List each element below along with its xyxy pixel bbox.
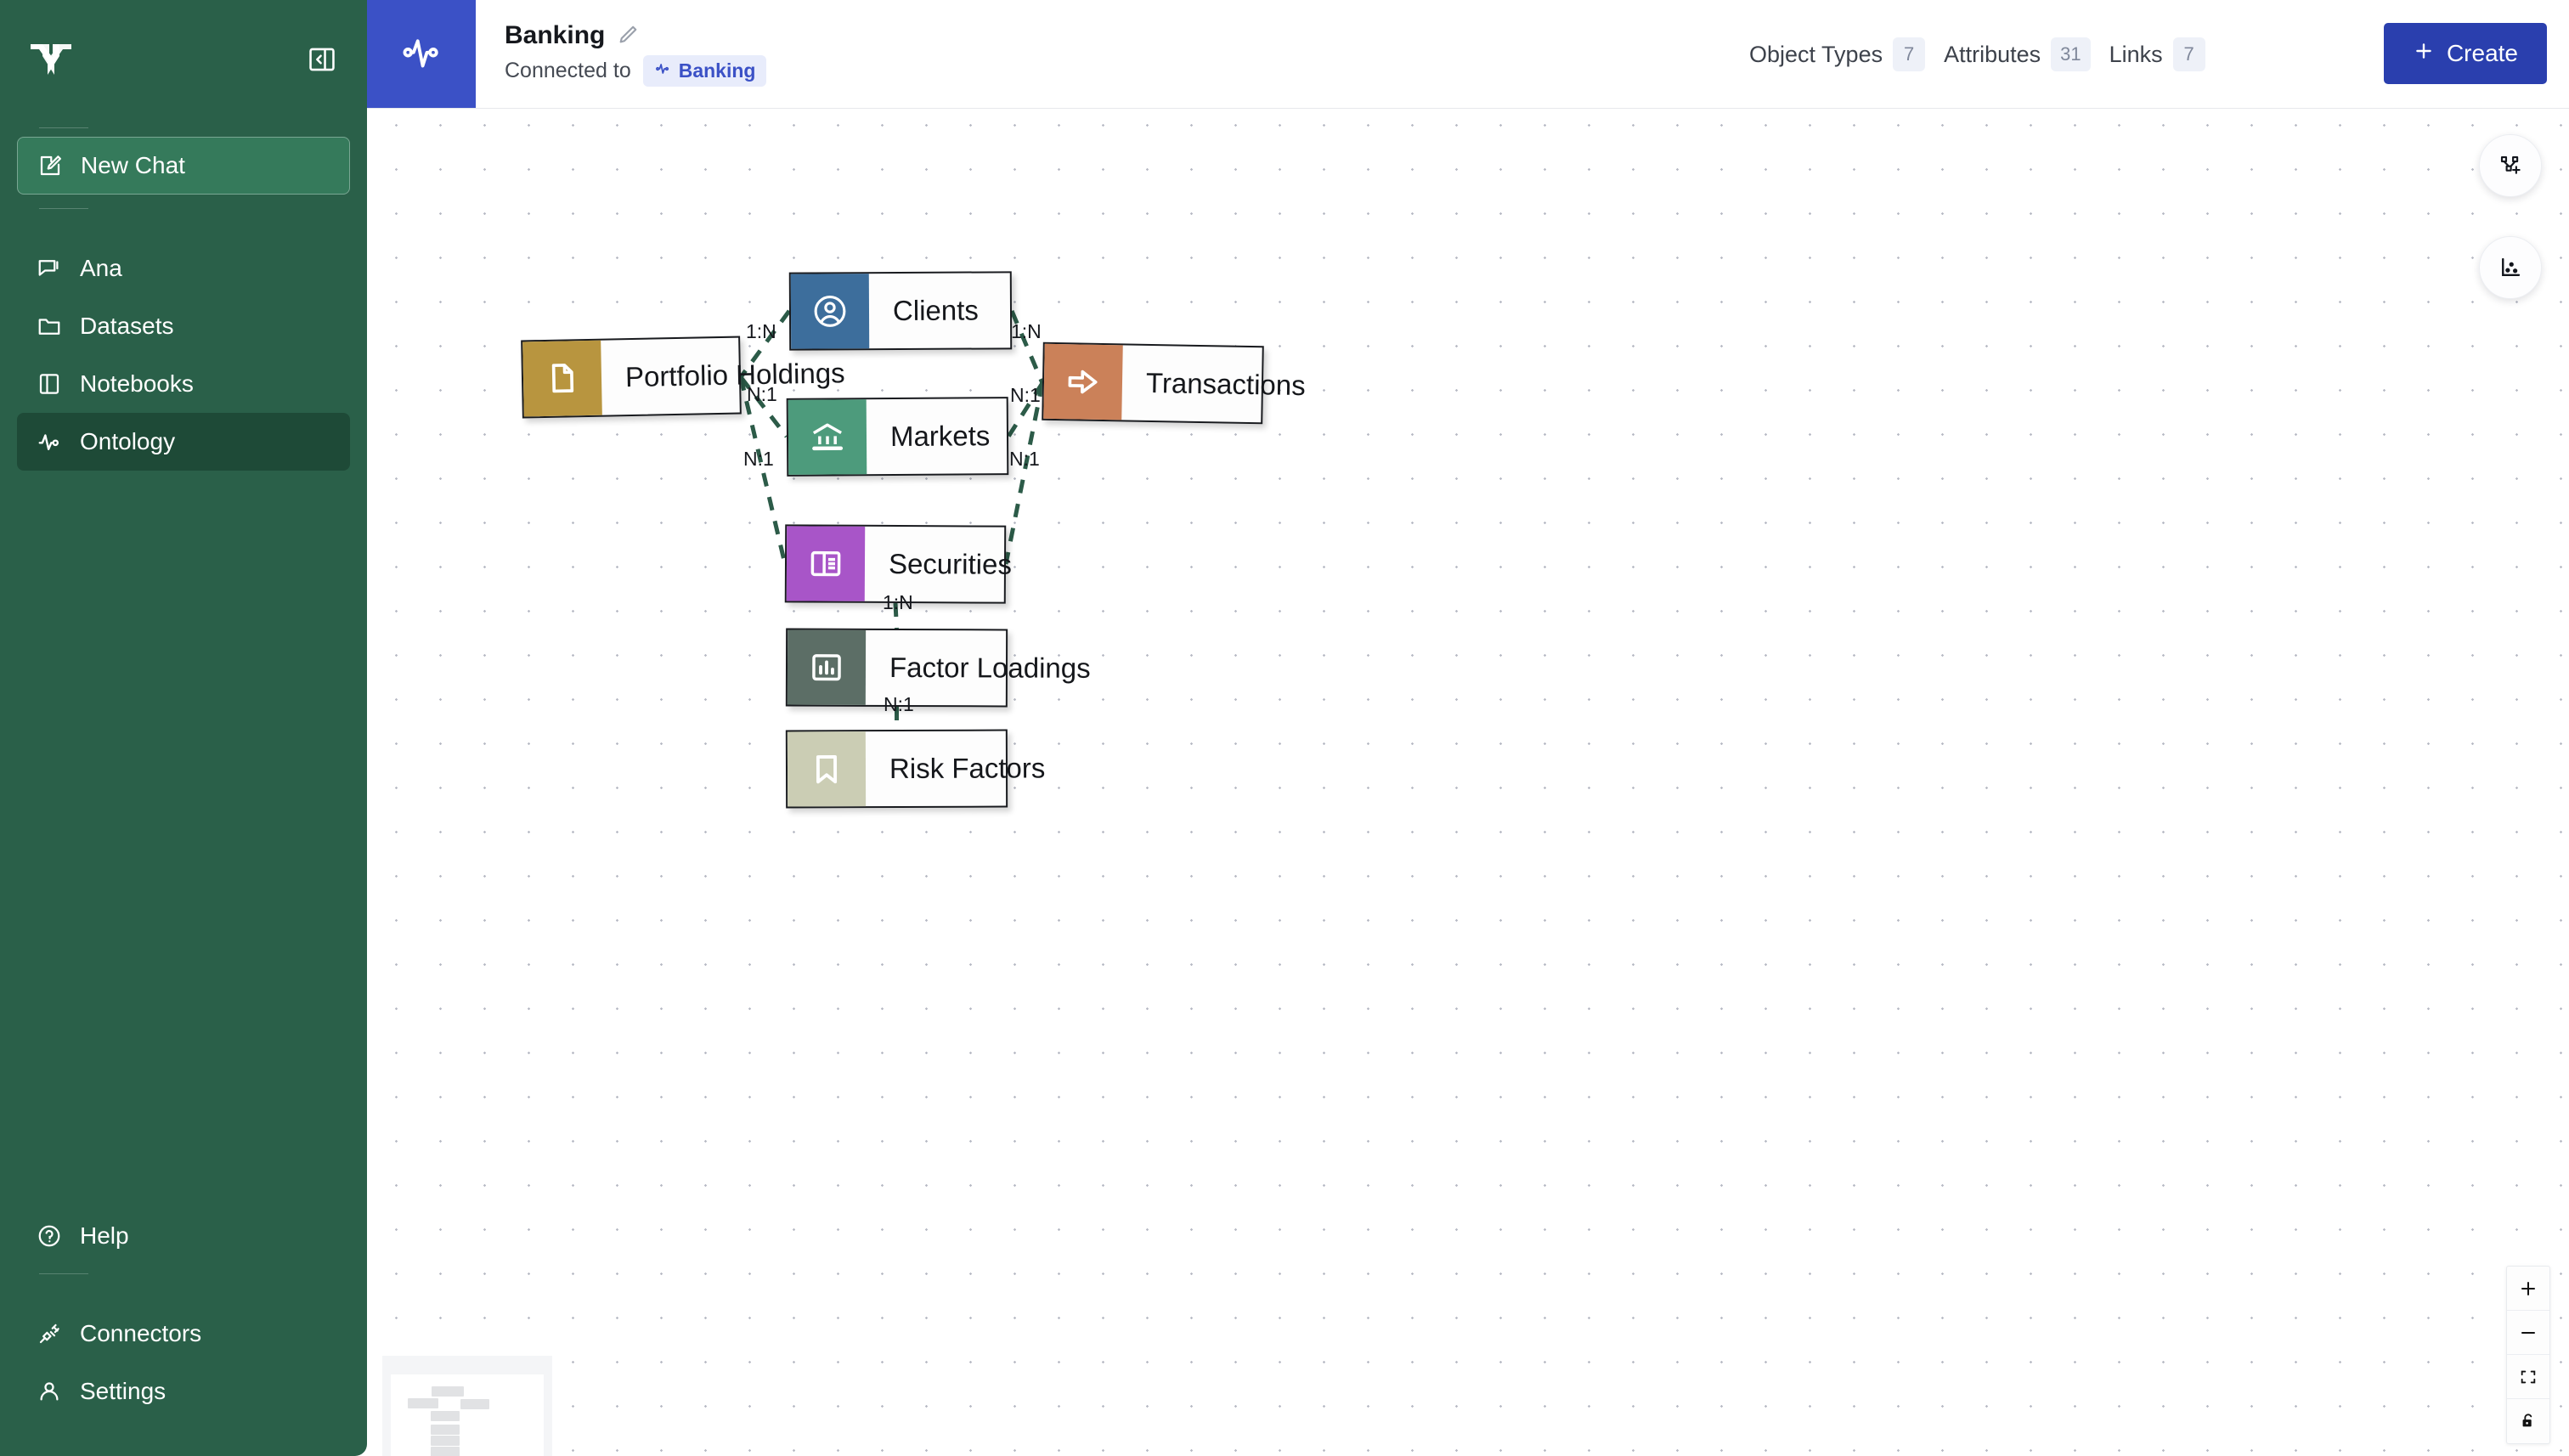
minimap-node <box>460 1399 489 1409</box>
library-icon <box>787 526 865 601</box>
edge-cardinality-label: N:1 <box>1009 448 1040 471</box>
sidebar: New Chat Ana Datasets <box>0 0 367 1456</box>
minimap-node <box>431 1425 460 1435</box>
minimap-node <box>408 1398 438 1408</box>
stat-attributes: Attributes 31 <box>1944 37 2091 71</box>
compose-icon <box>37 152 64 179</box>
page-title: Banking <box>505 21 605 50</box>
sidebar-header <box>15 0 352 119</box>
sidebar-spacer <box>15 471 352 1207</box>
object-type-label: Risk Factors <box>866 731 1068 806</box>
sidebar-item-label: Ontology <box>80 428 175 455</box>
stat-value: 7 <box>1893 37 1925 71</box>
sidebar-item-label: Help <box>80 1222 129 1250</box>
ontology-app: New Chat Ana Datasets <box>0 0 2569 1456</box>
pencil-icon[interactable] <box>617 22 641 50</box>
connected-source-chip[interactable]: Banking <box>643 55 767 87</box>
object-type-label: Clients <box>869 273 1001 348</box>
stat-label: Links <box>2109 42 2163 68</box>
sidebar-footer: Help Connectors <box>15 1207 352 1425</box>
ontology-icon <box>654 59 671 82</box>
create-button[interactable]: Create <box>2384 23 2547 84</box>
plug-icon <box>36 1320 63 1347</box>
arrow-right-box-icon <box>1043 344 1123 420</box>
edge-cardinality-label: N:1 <box>747 383 777 406</box>
fit-screen-button[interactable] <box>2507 1355 2549 1399</box>
sidebar-gap-bottom <box>15 1283 352 1305</box>
ontology-title-block: Banking Connected to <box>476 0 766 108</box>
chip-label: Banking <box>679 59 756 82</box>
document-icon <box>522 341 602 417</box>
ontology-canvas[interactable]: ClientsPortfolio HoldingsTransactionsMar… <box>367 109 2569 1456</box>
top-bar: Banking Connected to <box>367 0 2569 109</box>
ontology-edges <box>367 109 2569 1456</box>
edge-cardinality-label: N:1 <box>743 448 774 471</box>
ontology-app-icon <box>367 0 476 108</box>
bar-chart-icon <box>788 630 866 705</box>
chat-plus-icon <box>36 255 63 282</box>
sidebar-gap <box>15 217 352 240</box>
zoom-controls <box>2506 1266 2550 1444</box>
panel-collapse-icon[interactable] <box>308 45 336 74</box>
minimap-node <box>431 1447 460 1456</box>
main-area: Banking Connected to <box>367 0 2569 1456</box>
sidebar-item-ontology[interactable]: Ontology <box>17 413 350 471</box>
scatter-plot-button[interactable] <box>2479 236 2542 299</box>
sidebar-item-datasets[interactable]: Datasets <box>17 297 350 355</box>
ontology-stats: Object Types 7 Attributes 31 Links 7 <box>1749 0 2205 109</box>
sidebar-item-connectors[interactable]: Connectors <box>17 1305 350 1363</box>
object-type-node-transactions[interactable]: Transactions <box>1042 342 1264 425</box>
stat-object-types: Object Types 7 <box>1749 37 1925 71</box>
edge-cardinality-label: 1:N <box>746 320 776 343</box>
stat-label: Object Types <box>1749 42 1883 68</box>
object-type-label: Markets <box>867 398 1013 474</box>
plus-icon <box>2413 40 2435 68</box>
lock-button[interactable] <box>2507 1399 2549 1443</box>
minimap[interactable] <box>382 1356 552 1456</box>
minimap-node <box>432 1386 464 1397</box>
nexus-logo-icon <box>27 39 75 80</box>
question-circle-icon <box>36 1222 63 1250</box>
bank-icon <box>788 399 867 475</box>
add-link-button[interactable] <box>2479 134 2542 197</box>
stat-value: 7 <box>2173 37 2205 71</box>
stat-label: Attributes <box>1944 42 2041 68</box>
edge-cardinality-label: N:1 <box>884 693 914 716</box>
minimap-node <box>431 1411 460 1421</box>
sidebar-item-new-chat[interactable]: New Chat <box>17 137 350 195</box>
title-row: Banking <box>505 21 766 50</box>
sidebar-divider-bottom <box>39 1273 88 1274</box>
edge-cardinality-label: 1:N <box>883 591 913 614</box>
sidebar-item-help[interactable]: Help <box>17 1207 350 1265</box>
zoom-out-button[interactable] <box>2507 1311 2549 1355</box>
sidebar-divider-top <box>39 127 88 128</box>
user-icon <box>36 1378 63 1405</box>
folder-icon <box>36 313 63 340</box>
notebook-icon <box>36 370 63 398</box>
bookmark-icon <box>788 731 866 806</box>
sidebar-item-label: Notebooks <box>80 370 194 398</box>
stat-links: Links 7 <box>2109 37 2205 71</box>
object-type-node-portfolio[interactable]: Portfolio Holdings <box>521 336 742 419</box>
sidebar-item-notebooks[interactable]: Notebooks <box>17 355 350 413</box>
sidebar-item-label: Ana <box>80 255 122 282</box>
sidebar-divider-mid <box>39 208 88 209</box>
sidebar-item-ana[interactable]: Ana <box>17 240 350 297</box>
sidebar-item-label: Settings <box>80 1378 166 1405</box>
create-button-label: Create <box>2447 40 2518 67</box>
zoom-in-button[interactable] <box>2507 1267 2549 1311</box>
sidebar-item-label: New Chat <box>81 152 185 179</box>
edge-cardinality-label: 1:N <box>1011 320 1042 343</box>
connected-to-label: Connected to <box>505 59 631 83</box>
sidebar-item-label: Connectors <box>80 1320 201 1347</box>
object-type-node-risk[interactable]: Risk Factors <box>786 730 1008 809</box>
stat-value: 31 <box>2051 37 2090 71</box>
edge-cardinality-label: N:1 <box>1010 384 1041 407</box>
minimap-node <box>431 1436 460 1446</box>
minimap-viewport <box>391 1374 544 1456</box>
sidebar-item-label: Datasets <box>80 313 174 340</box>
ontology-icon <box>36 428 63 455</box>
object-type-node-markets[interactable]: Markets <box>787 397 1009 477</box>
sidebar-item-settings[interactable]: Settings <box>17 1363 350 1420</box>
object-type-label: Transactions <box>1121 345 1328 423</box>
connected-row: Connected to Banking <box>505 55 766 87</box>
